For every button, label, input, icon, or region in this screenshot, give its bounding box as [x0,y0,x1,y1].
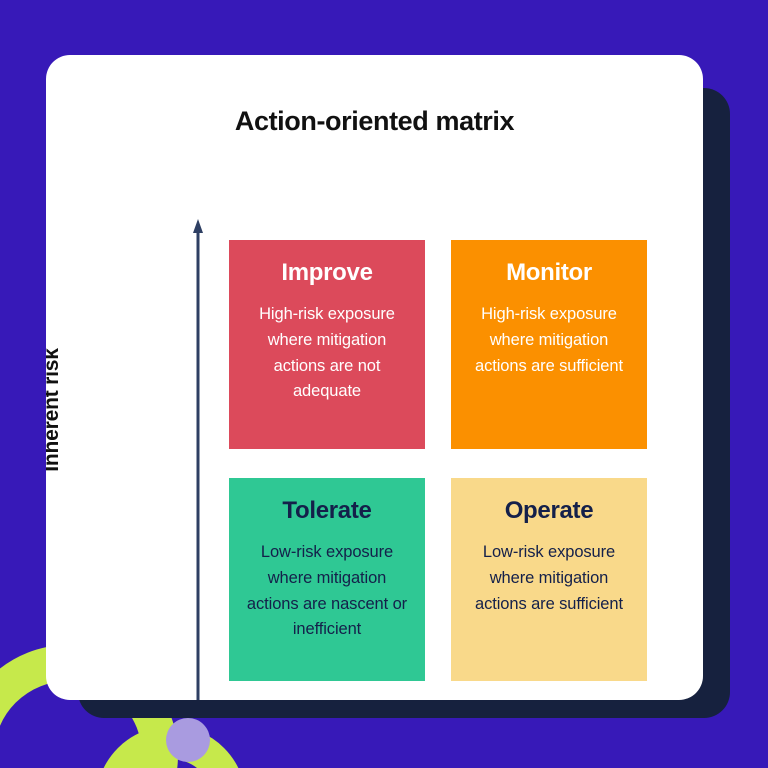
quadrant-tolerate[interactable]: Tolerate Low-risk exposure where mitigat… [229,478,425,681]
quadrant-matrix: Improve High-risk exposure where mitigat… [229,240,647,681]
y-axis-arrowhead [193,219,203,233]
quadrant-improve[interactable]: Improve High-risk exposure where mitigat… [229,240,425,449]
quadrant-operate[interactable]: Operate Low-risk exposure where mitigati… [451,478,647,681]
quadrant-title: Operate [505,498,594,524]
page-title: Action-oriented matrix [46,106,703,137]
y-axis-label: Inherent risk [46,310,64,510]
quadrant-title: Monitor [506,260,592,286]
poster-canvas: Action-oriented matrix Inherent risk Imp… [0,0,768,768]
quadrant-description: Low-risk exposure where mitigation actio… [243,540,411,642]
lavender-circle-decoration [166,718,210,762]
quadrant-description: Low-risk exposure where mitigation actio… [465,540,633,617]
quadrant-title: Improve [281,260,372,286]
quadrant-monitor[interactable]: Monitor High-risk exposure where mitigat… [451,240,647,449]
quadrant-description: High-risk exposure where mitigation acti… [243,302,411,404]
quadrant-title: Tolerate [282,498,371,524]
quadrant-description: High-risk exposure where mitigation acti… [465,302,633,379]
matrix-card: Action-oriented matrix Inherent risk Imp… [46,55,703,700]
